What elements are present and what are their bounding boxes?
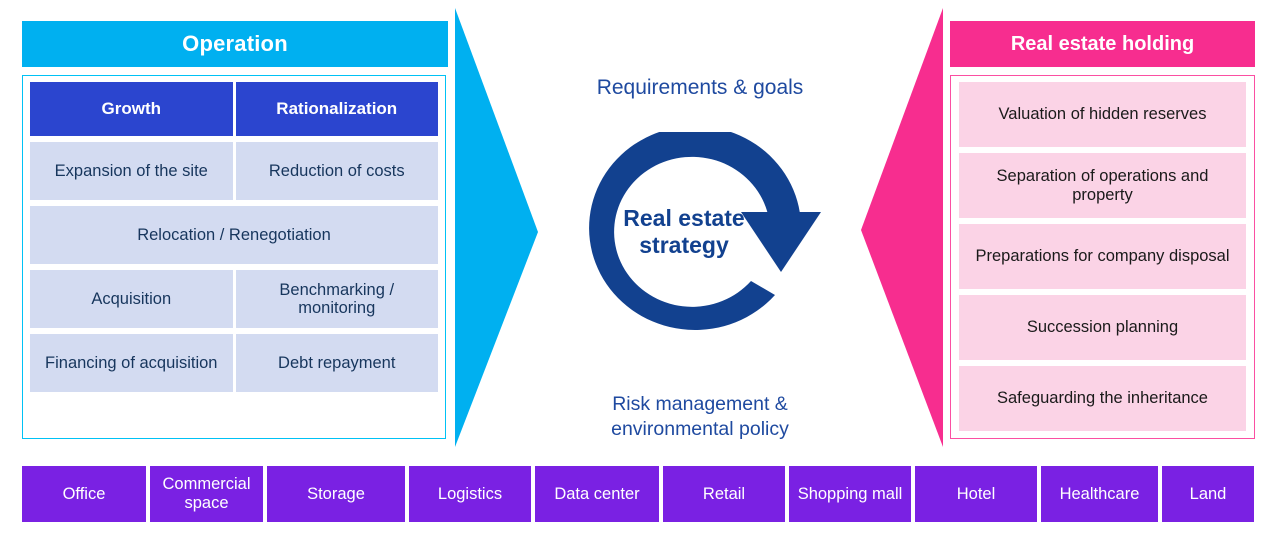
asset-cell-retail: Retail (663, 466, 785, 522)
risk-management-label: Risk management & environmental policy (520, 392, 880, 442)
diagram-canvas: Operation Growth Rationalization Expansi… (0, 0, 1280, 549)
asset-cell-commercial-space: Commercial space (150, 466, 263, 522)
asset-class-bar: Office Commercial space Storage Logistic… (22, 466, 1254, 522)
holding-panel-body: Valuation of hidden reserves Separation … (950, 75, 1255, 439)
holding-item-succession: Succession planning (959, 295, 1246, 360)
real-estate-strategy-cycle: Real estate strategy (578, 132, 822, 354)
holding-item-separation: Separation of operations and property (959, 153, 1246, 218)
real-estate-holding-panel: Real estate holding Valuation of hidden … (950, 21, 1255, 441)
asset-cell-shopping-mall: Shopping mall (789, 466, 911, 522)
asset-cell-data-center: Data center (535, 466, 659, 522)
asset-cell-land: Land (1162, 466, 1254, 522)
asset-cell-logistics: Logistics (409, 466, 531, 522)
risk-management-line-2: environmental policy (520, 417, 880, 442)
asset-cell-healthcare: Healthcare (1041, 466, 1158, 522)
asset-cell-office: Office (22, 466, 146, 522)
requirements-goals-label: Requirements & goals (500, 76, 900, 100)
holding-item-safeguarding: Safeguarding the inheritance (959, 366, 1246, 431)
risk-management-line-1: Risk management & (520, 392, 880, 417)
holding-item-valuation: Valuation of hidden reserves (959, 82, 1246, 147)
asset-cell-hotel: Hotel (915, 466, 1037, 522)
holding-item-preparations: Preparations for company disposal (959, 224, 1246, 289)
cycle-label: Real estate strategy (578, 205, 790, 258)
holding-panel-title: Real estate holding (950, 21, 1255, 67)
asset-cell-storage: Storage (267, 466, 405, 522)
